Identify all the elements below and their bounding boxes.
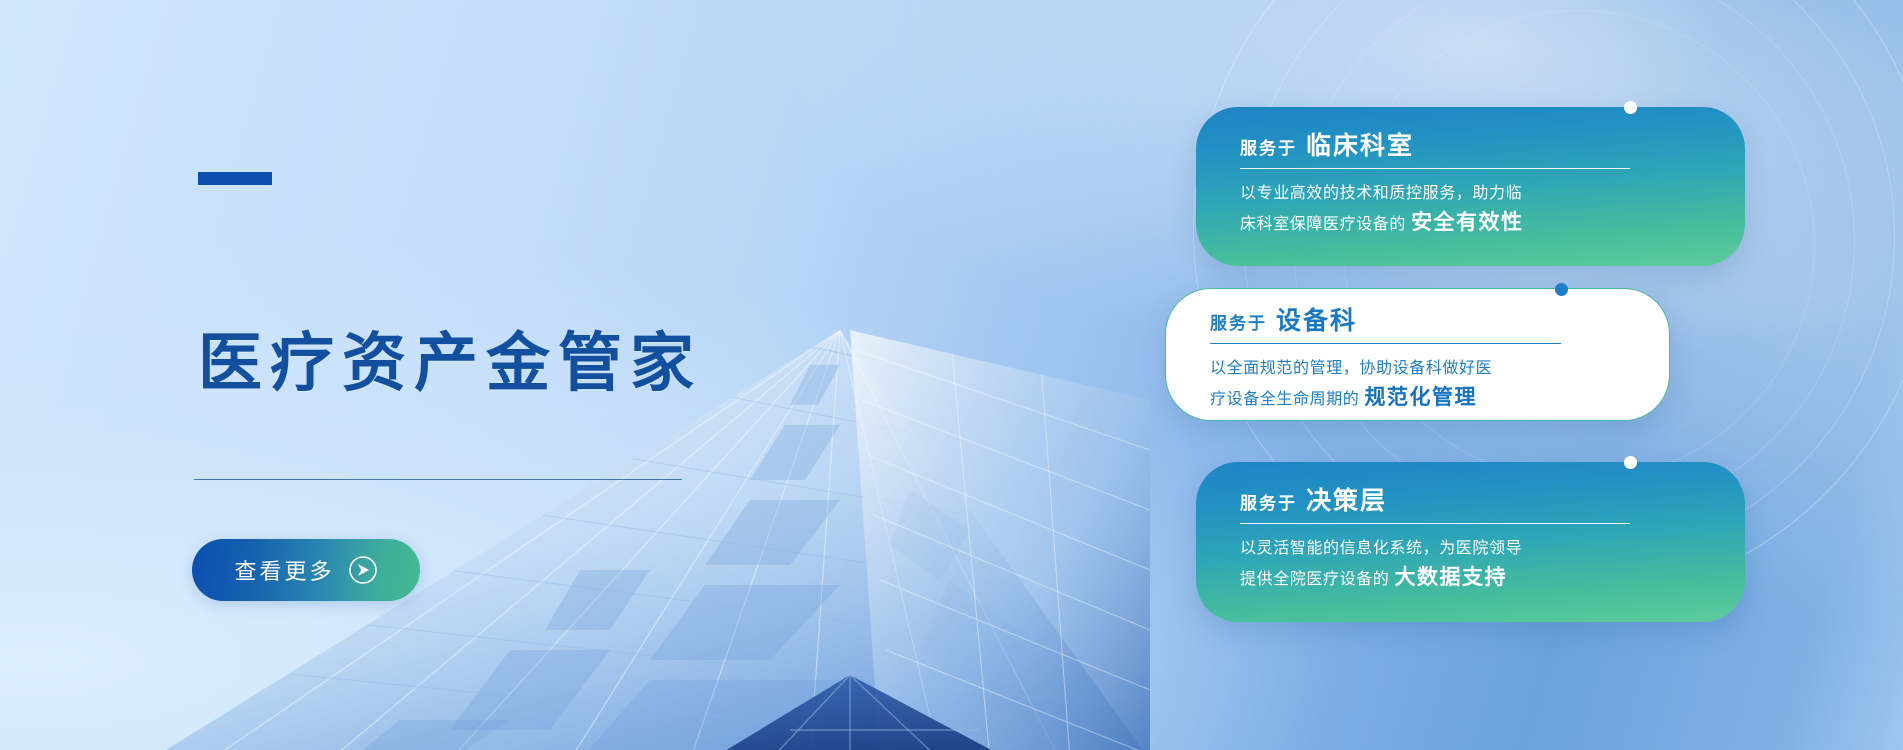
card-3-eyebrow-prefix: 服务于 [1240,489,1297,514]
card-2-eyebrow: 服务于 设备科 [1210,301,1357,337]
card-1-desc-line-2: 床科室保障医疗设备的 安全有效性 [1240,208,1524,239]
card-3-desc-emphasis: 大数据支持 [1394,566,1507,589]
card-3-desc-line-2-normal: 提供全院医疗设备的 [1240,571,1389,588]
card-1-eyebrow-main: 临床科室 [1306,126,1414,162]
card-3-desc-line-2: 提供全院医疗设备的 大数据支持 [1240,563,1522,594]
card-3-rule [1240,523,1630,524]
service-card-clinical-department[interactable]: 服务于 临床科室 以专业高效的技术和质控服务，助力临 床科室保障医疗设备的 安全… [1196,107,1745,266]
card-2-description: 以全面规范的管理，协助设备科做好医 疗设备全生命周期的 规范化管理 [1210,354,1492,414]
card-1-eyebrow-prefix: 服务于 [1240,134,1297,159]
card-3-desc-line-1: 以灵活智能的信息化系统，为医院领导 [1240,534,1522,563]
card-1-eyebrow: 服务于 临床科室 [1240,126,1414,162]
card-1-rule [1240,168,1630,169]
service-cards-group: 服务于 临床科室 以专业高效的技术和质控服务，助力临 床科室保障医疗设备的 安全… [0,0,1903,750]
card-2-eyebrow-prefix: 服务于 [1210,309,1267,334]
card-2-desc-line-1: 以全面规范的管理，协助设备科做好医 [1210,354,1492,383]
card-3-eyebrow: 服务于 决策层 [1240,481,1387,517]
card-2-desc-line-2: 疗设备全生命周期的 规范化管理 [1210,383,1492,414]
card-1-desc-line-1: 以专业高效的技术和质控服务，助力临 [1240,179,1524,208]
card-2-desc-line-2-normal: 疗设备全生命周期的 [1210,391,1359,408]
card-2-desc-emphasis: 规范化管理 [1364,386,1477,409]
service-card-decision-layer[interactable]: 服务于 决策层 以灵活智能的信息化系统，为医院领导 提供全院医疗设备的 大数据支… [1196,462,1745,622]
card-2-rule-dot-icon [1555,283,1568,296]
card-1-desc-line-2-normal: 床科室保障医疗设备的 [1240,216,1406,233]
card-2-eyebrow-main: 设备科 [1276,301,1357,337]
card-3-rule-dot-icon [1624,456,1637,469]
hero-banner: 医疗资产金管家 查看更多 服务于 临床科室 以专业高效的技术和质控服务，助力临 [0,0,1903,750]
card-3-description: 以灵活智能的信息化系统，为医院领导 提供全院医疗设备的 大数据支持 [1240,534,1522,594]
card-2-rule [1210,343,1561,344]
card-1-description: 以专业高效的技术和质控服务，助力临 床科室保障医疗设备的 安全有效性 [1240,179,1524,239]
service-card-equipment-department[interactable]: 服务于 设备科 以全面规范的管理，协助设备科做好医 疗设备全生命周期的 规范化管… [1165,288,1670,421]
card-1-desc-emphasis: 安全有效性 [1411,211,1524,234]
card-1-rule-dot-icon [1624,101,1637,114]
card-3-eyebrow-main: 决策层 [1306,481,1387,517]
